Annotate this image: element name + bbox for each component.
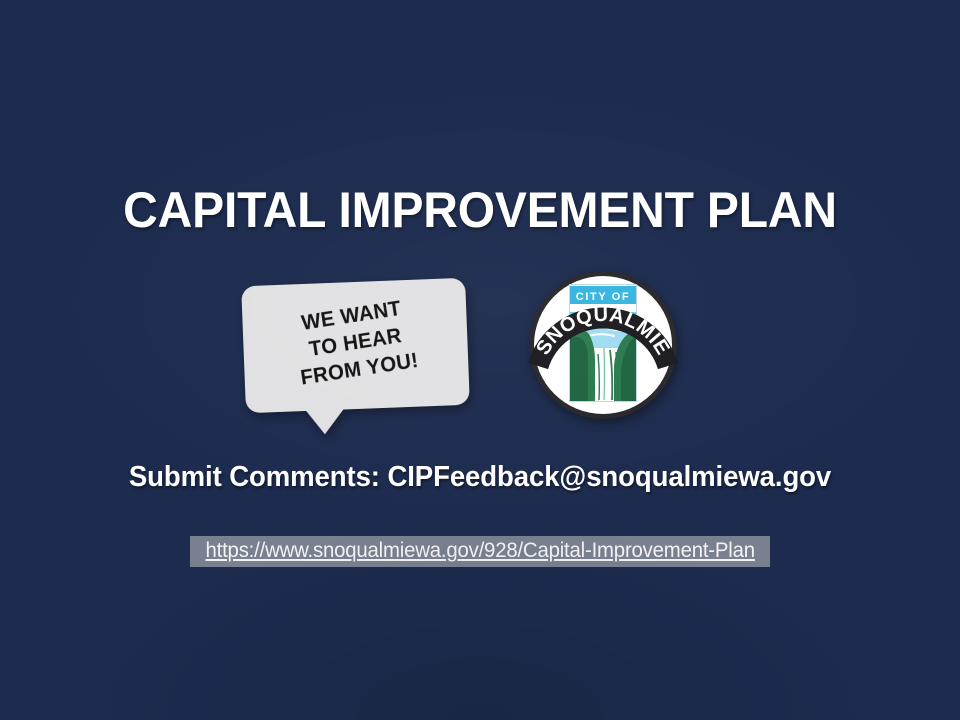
url-highlight-box: https://www.snoqualmiewa.gov/928/Capital… [190,536,770,567]
city-of-snoqualmie-seal-logo: CITY OF SNOQUALMIE [514,270,692,420]
cip-url-row: https://www.snoqualmiewa.gov/928/Capital… [0,536,960,567]
presentation-slide: CAPITAL IMPROVEMENT PLAN WE WANT TO HEAR… [0,0,960,720]
page-title: CAPITAL IMPROVEMENT PLAN [19,182,941,238]
submit-comments-text: Submit Comments: CIPFeedback@snoqualmiew… [24,459,936,495]
seal-city-of-label: CITY OF [576,291,630,303]
speech-bubble-callout: WE WANT TO HEAR FROM YOU! [241,278,471,438]
cip-url-link[interactable]: https://www.snoqualmiewa.gov/928/Capital… [205,539,754,563]
